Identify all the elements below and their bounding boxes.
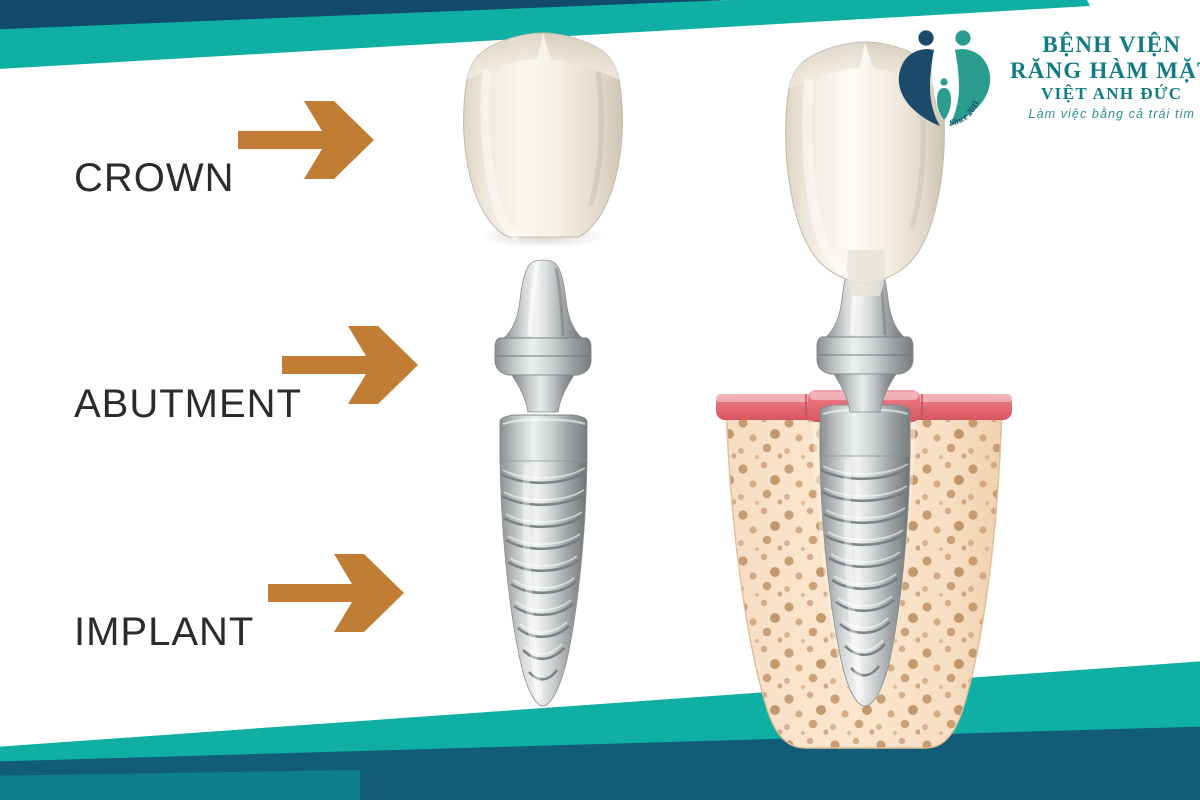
arrow-crown-icon: [238, 95, 388, 190]
abutment-part-left: [495, 260, 591, 412]
heart-tooth-logo-icon: Since 2011: [888, 22, 1000, 134]
logo-line-3: VIỆT ANH ĐỨC: [1041, 83, 1183, 105]
label-crown: CROWN: [74, 156, 235, 201]
arrow-abutment-icon: [282, 320, 432, 415]
label-implant: IMPLANT: [74, 610, 254, 655]
dental-implant-infographic: CROWN ABUTMENT IMPLANT: [0, 0, 1200, 800]
clinic-logo-text: BỆNH VIỆN RĂNG HÀM MẶT VIỆT ANH ĐỨC Làm …: [1010, 32, 1200, 124]
logo-line-1: BỆNH VIỆN: [1042, 32, 1181, 58]
implant-screw-part-left: [500, 415, 587, 706]
left-assembly: [464, 33, 623, 706]
logo-tagline: Làm việc bằng cả trái tim: [1029, 105, 1195, 124]
right-assembly: [716, 42, 1012, 748]
label-abutment: ABUTMENT: [74, 382, 302, 427]
arrow-implant-icon: [268, 548, 418, 643]
crown-part-left: [464, 33, 623, 248]
clinic-logo: Since 2011 BỆNH VIỆN RĂNG HÀM MẶT VIỆT A…: [888, 22, 1200, 134]
logo-line-2: RĂNG HÀM MẶT: [1010, 58, 1200, 84]
